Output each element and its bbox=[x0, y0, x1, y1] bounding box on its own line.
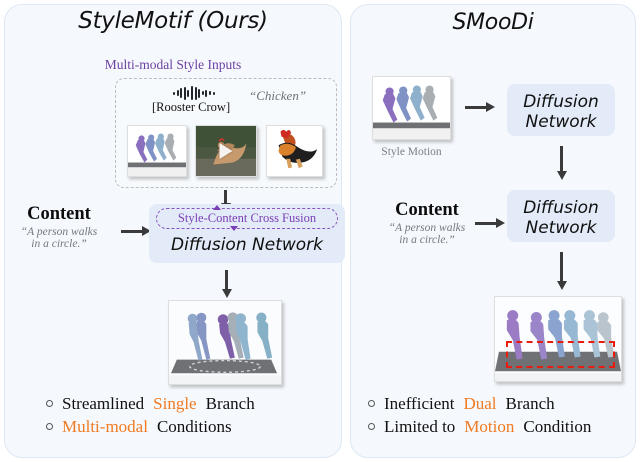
style-image-thumbnail[interactable] bbox=[266, 125, 323, 177]
circle-bullet-icon bbox=[46, 400, 53, 407]
left-content-prompt-line1: “A person walks bbox=[2, 226, 116, 239]
style-content-cross-fusion-pill: Style-Content Cross Fusion bbox=[156, 208, 338, 229]
left-bullet-2-highlight: Multi-modal bbox=[62, 415, 148, 438]
right-bullet-2-highlight: Motion bbox=[464, 415, 514, 438]
left-bullet-list: Streamlined Single Branch Multi-modal Co… bbox=[46, 392, 255, 438]
style-motion-thumbnail[interactable] bbox=[127, 125, 187, 177]
arrow-content-to-network-left bbox=[121, 230, 143, 233]
right-network2-label-line2: Network bbox=[507, 218, 615, 238]
right-bullet-2-post: Condition bbox=[523, 415, 591, 438]
right-style-motion-thumbnail[interactable] bbox=[372, 76, 451, 140]
right-panel-title: SMooDi bbox=[350, 10, 636, 35]
circle-bullet-icon bbox=[368, 400, 375, 407]
fusion-arrow-up-icon bbox=[213, 205, 221, 210]
rooster-image-graphic bbox=[267, 126, 322, 176]
right-network1-label-line1: Diffusion bbox=[507, 92, 615, 112]
left-output-motion-image[interactable] bbox=[168, 300, 282, 385]
right-bullet-list: Inefficient Dual Branch Limited to Motio… bbox=[368, 392, 591, 438]
artifact-highlight-box bbox=[506, 341, 615, 368]
left-bullet-2: Multi-modal Conditions bbox=[46, 415, 255, 438]
circle-bullet-icon bbox=[46, 423, 53, 430]
right-bullet-2: Limited to Motion Condition bbox=[368, 415, 591, 438]
right-content-prompt-line1: “A person walks bbox=[368, 222, 486, 235]
left-bullet-2-post: Conditions bbox=[157, 415, 232, 438]
right-output-graphic bbox=[495, 297, 621, 381]
style-motion-caption: Style Motion bbox=[372, 146, 451, 158]
right-bullet-1: Inefficient Dual Branch bbox=[368, 392, 591, 415]
left-content-prompt-line2: in a circle.” bbox=[2, 238, 116, 251]
left-output-graphic bbox=[169, 301, 281, 384]
arrow-network1-to-network2 bbox=[560, 146, 563, 172]
left-panel-title: StyleMotif (Ours) bbox=[4, 8, 342, 34]
play-icon[interactable] bbox=[220, 143, 233, 159]
circle-bullet-icon bbox=[368, 423, 375, 430]
right-style-motion-graphic bbox=[373, 77, 450, 139]
left-bullet-1-highlight: Single bbox=[153, 392, 196, 415]
audio-waveform-icon bbox=[173, 86, 215, 100]
audio-caption: [Rooster Crow] bbox=[152, 100, 230, 115]
right-bullet-1-pre: Inefficient bbox=[384, 392, 454, 415]
motion-strip-graphic bbox=[128, 126, 186, 176]
multimodal-style-inputs-label: Multi-modal Style Inputs bbox=[4, 57, 342, 73]
right-content-prompt-line2: in a circle.” bbox=[368, 234, 486, 247]
right-bullet-1-highlight: Dual bbox=[463, 392, 496, 415]
right-bullet-1-post: Branch bbox=[506, 392, 555, 415]
arrow-style-to-network-right bbox=[465, 106, 487, 109]
right-output-motion-image[interactable] bbox=[494, 296, 622, 382]
arrow-content-to-network-right bbox=[475, 222, 497, 225]
left-diffusion-network-label: Diffusion Network bbox=[149, 235, 345, 255]
style-video-thumbnail[interactable] bbox=[195, 125, 257, 177]
figure-root: StyleMotif (Ours) Multi-modal Style Inpu… bbox=[0, 0, 640, 462]
arrow-network-to-output-left bbox=[225, 270, 228, 290]
fusion-arrow-down-icon bbox=[230, 226, 238, 231]
right-content-heading: Content bbox=[368, 200, 486, 221]
arrow-network2-to-output bbox=[560, 252, 563, 282]
left-bullet-1-post: Branch bbox=[206, 392, 255, 415]
arrow-style-to-network bbox=[224, 190, 227, 204]
left-bullet-1-pre: Streamlined bbox=[62, 392, 144, 415]
text-style-prompt: “Chicken” bbox=[249, 88, 306, 104]
right-bullet-2-pre: Limited to bbox=[384, 415, 455, 438]
left-bullet-1: Streamlined Single Branch bbox=[46, 392, 255, 415]
right-network2-label-line1: Diffusion bbox=[507, 198, 615, 218]
left-content-heading: Content bbox=[2, 204, 116, 225]
right-network1-label-line2: Network bbox=[507, 112, 615, 132]
